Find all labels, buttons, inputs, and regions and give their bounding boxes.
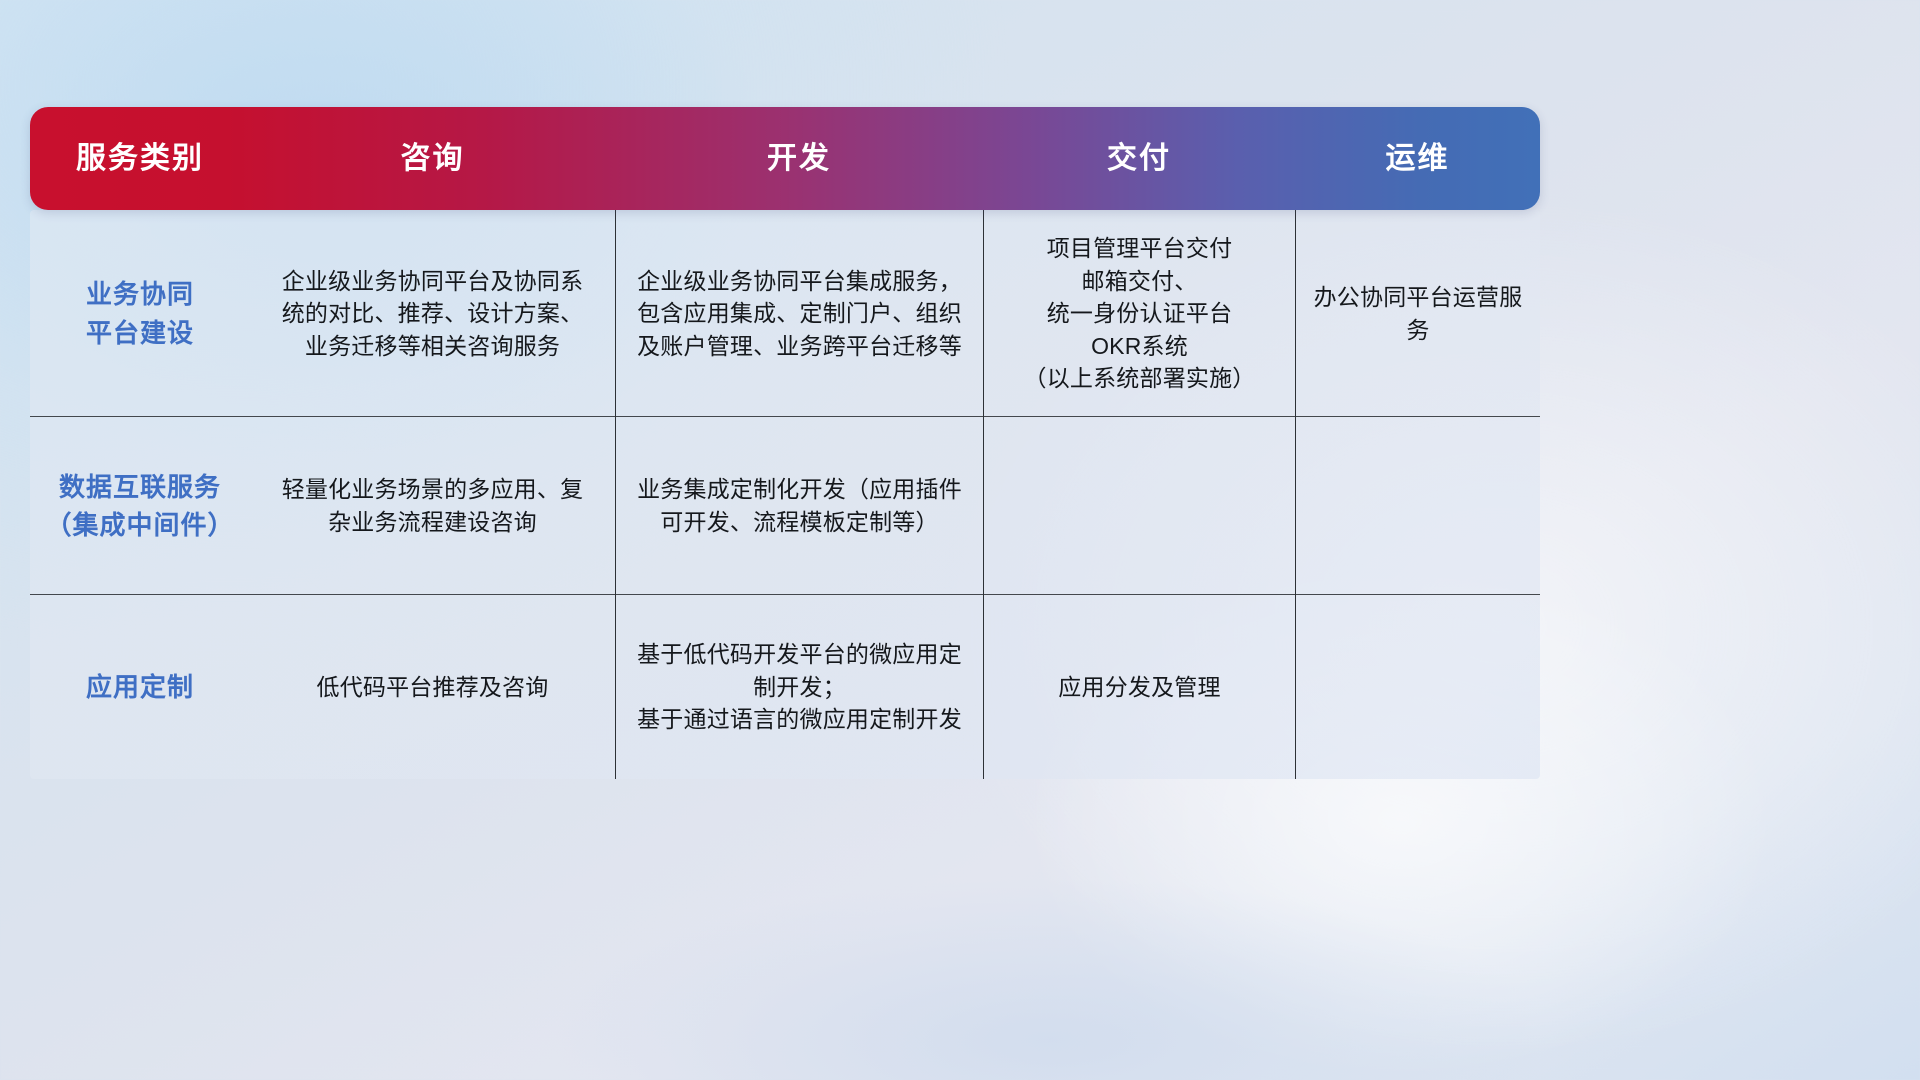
cell-delivery (983, 417, 1295, 595)
cell-consulting: 低代码平台推荐及咨询 (250, 595, 615, 779)
cell-operations (1295, 417, 1540, 595)
cell-text: 办公协同平台运营服务 (1308, 281, 1528, 346)
table-row: 业务协同 平台建设 企业级业务协同平台及协同系 统的对比、推荐、设计方案、 业务… (30, 210, 1540, 417)
cell-development: 企业级业务协同平台集成服务， 包含应用集成、定制门户、组织 及账户管理、业务跨平… (615, 210, 983, 417)
cell-consulting: 企业级业务协同平台及协同系 统的对比、推荐、设计方案、 业务迁移等相关咨询服务 (250, 210, 615, 417)
table-header-row: 服务类别 咨询 开发 交付 运维 (30, 107, 1540, 210)
cell-delivery: 项目管理平台交付 邮箱交付、 统一身份认证平台 OKR系统 （以上系统部署实施） (983, 210, 1295, 417)
row-label-cell: 业务协同 平台建设 (30, 210, 250, 417)
cell-development: 业务集成定制化开发（应用插件 可开发、流程模板定制等） (615, 417, 983, 595)
background-bloom-bottom (560, 880, 1540, 1080)
cell-text: 轻量化业务场景的多应用、复 杂业务流程建设咨询 (282, 473, 584, 538)
table-header-service-category: 服务类别 (30, 144, 250, 174)
cell-operations (1295, 595, 1540, 779)
table-header-delivery: 交付 (983, 144, 1295, 174)
cell-delivery: 应用分发及管理 (983, 595, 1295, 779)
cell-text: 应用分发及管理 (1058, 671, 1220, 704)
row-label-cell: 应用定制 (30, 595, 250, 779)
cell-text: 业务集成定制化开发（应用插件 可开发、流程模板定制等） (637, 473, 962, 538)
table-header-operations: 运维 (1295, 144, 1540, 174)
service-matrix-table: 服务类别 咨询 开发 交付 运维 业务协同 平台建设 企业级业务协同平台及协同系… (30, 107, 1540, 779)
cell-text: 基于低代码开发平台的微应用定 制开发； 基于通过语言的微应用定制开发 (637, 638, 962, 736)
table-row: 数据互联服务 （集成中间件） 轻量化业务场景的多应用、复 杂业务流程建设咨询 业… (30, 417, 1540, 595)
cell-development: 基于低代码开发平台的微应用定 制开发； 基于通过语言的微应用定制开发 (615, 595, 983, 779)
row-label-text: 业务协同 平台建设 (86, 275, 194, 352)
cell-text: 低代码平台推荐及咨询 (317, 671, 549, 704)
row-label-text: 应用定制 (86, 668, 194, 706)
table-rows: 业务协同 平台建设 企业级业务协同平台及协同系 统的对比、推荐、设计方案、 业务… (30, 210, 1540, 779)
table-header-development: 开发 (615, 144, 983, 174)
table-header-consulting: 咨询 (250, 144, 615, 174)
cell-operations: 办公协同平台运营服务 (1295, 210, 1540, 417)
cell-consulting: 轻量化业务场景的多应用、复 杂业务流程建设咨询 (250, 417, 615, 595)
cell-text: 企业级业务协同平台集成服务， 包含应用集成、定制门户、组织 及账户管理、业务跨平… (637, 265, 962, 363)
row-label-cell: 数据互联服务 （集成中间件） (30, 417, 250, 595)
cell-text: 项目管理平台交付 邮箱交付、 统一身份认证平台 OKR系统 （以上系统部署实施） (1024, 232, 1256, 395)
cell-text: 企业级业务协同平台及协同系 统的对比、推荐、设计方案、 业务迁移等相关咨询服务 (282, 265, 584, 363)
table-row: 应用定制 低代码平台推荐及咨询 基于低代码开发平台的微应用定 制开发； 基于通过… (30, 595, 1540, 779)
row-label-text: 数据互联服务 （集成中间件） (45, 468, 234, 545)
